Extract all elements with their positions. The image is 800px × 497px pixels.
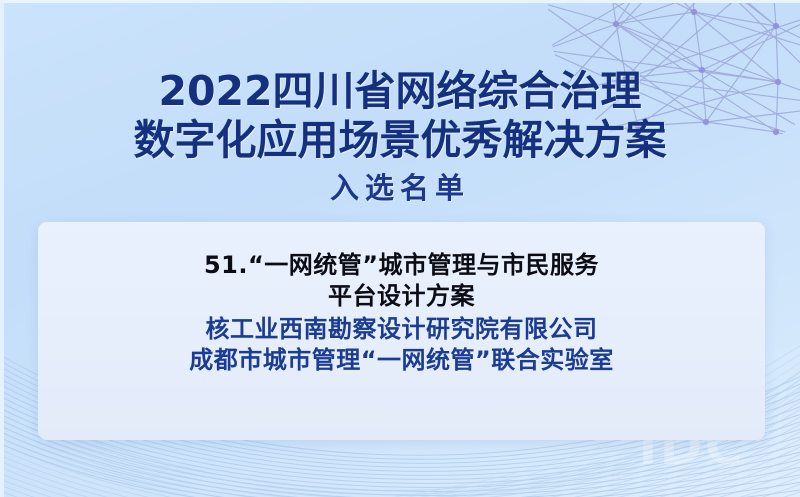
poster-headline: 2022四川省网络综合治理 数字化应用场景优秀解决方案 入选名单: [0, 68, 800, 211]
entry-organization-2: 成都市城市管理“一网统管”联合实验室: [64, 345, 739, 376]
headline-line-3: 入选名单: [0, 165, 800, 211]
poster-canvas: IDC INTERNATIONAL DATA CORPORATION 2022四…: [0, 0, 800, 497]
entry-title-line-2: 平台设计方案: [64, 281, 739, 312]
headline-line-1: 2022四川省网络综合治理: [0, 68, 800, 115]
headline-line-2: 数字化应用场景优秀解决方案: [0, 115, 800, 165]
watermark-subtext: INTERNATIONAL DATA CORPORATION: [603, 474, 780, 481]
entry-organization-1: 核工业西南勘察设计研究院有限公司: [64, 314, 739, 345]
entry-card: 51.“一网统管”城市管理与市民服务 平台设计方案 核工业西南勘察设计研究院有限…: [38, 222, 765, 440]
entry-title-line-1: 51.“一网统管”城市管理与市民服务: [64, 250, 739, 281]
